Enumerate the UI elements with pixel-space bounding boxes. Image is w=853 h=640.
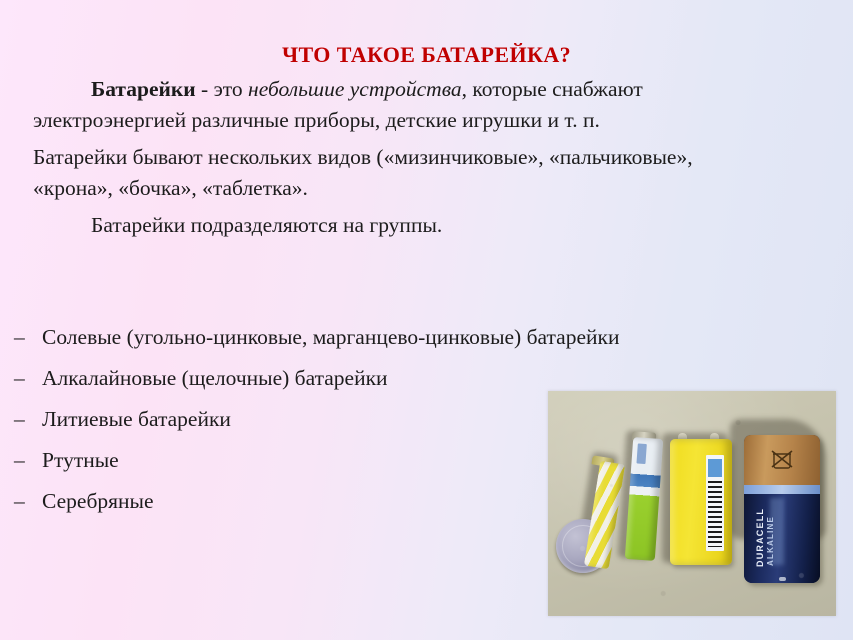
krona-9v-battery [670,439,732,565]
photo-surface: DURACELL ALKALINE [548,391,836,616]
paragraph-groups-intro: Батарейки подразделяются на группы. [33,210,755,241]
dash-bullet-icon: – [14,322,32,352]
page-title: ЧТО ТАКОЕ БАТАРЕЙКА? [0,43,853,67]
dash-bullet-icon: – [14,363,32,393]
presentation-slide: ЧТО ТАКОЕ БАТАРЕЙКА? Батарейки - это неб… [0,0,853,640]
list-item-solevye: – Солевые (угольно-цинковые, марганцево-… [14,322,744,352]
d-cell-battery: DURACELL ALKALINE [744,435,820,583]
paragraph-kinds: Батарейки бывают нескольких видов («мизи… [33,142,755,204]
d-cell-copper-top [744,435,820,485]
duracell-brand-text: DURACELL [755,508,765,567]
krona-barcode-label [706,455,724,551]
dash-bullet-icon: – [14,486,32,516]
list-item-alkalajnovye: – Алкалайновые (щелочные) батарейки [14,363,744,393]
definition-emphasis: небольшие устройства [248,77,462,101]
d-cell-silver-band [744,485,820,494]
d-cell-blue-body: DURACELL ALKALINE [744,494,820,583]
crossed-out-bin-icon [769,449,795,469]
duracell-alkaline-text: ALKALINE [766,516,775,566]
list-item-label: Алкалайновые (щелочные) батарейки [42,363,744,393]
battery-photo: DURACELL ALKALINE [548,391,836,616]
dash-bullet-icon: – [14,445,32,475]
slide-body-text: Батарейки - это небольшие устройства, ко… [33,74,755,247]
list-item-label: Солевые (угольно-цинковые, марганцево-ци… [42,322,744,352]
definition-term: Батарейки [91,77,196,101]
paragraph-definition: Батарейки - это небольшие устройства, ко… [33,74,755,136]
definition-connector: - это [196,77,248,101]
dash-bullet-icon: – [14,404,32,434]
d-cell-bottom-contact [779,577,786,581]
